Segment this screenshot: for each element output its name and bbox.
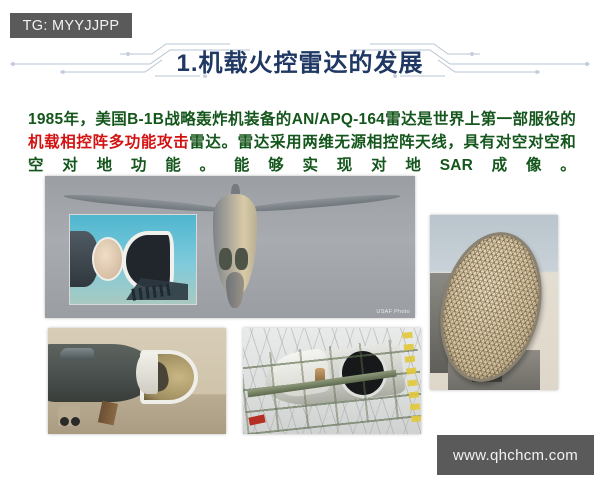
inset-antenna-array: [92, 237, 124, 281]
photo-radar-inset: [69, 214, 197, 305]
body-segment-1: 1985年，美国B-1B战略轰炸机装备的AN/APQ-164雷达是世界上第一部服…: [28, 111, 576, 128]
body-segment-highlight: 机载相控阵多功能攻击: [28, 134, 189, 151]
engine-inlet-right: [235, 248, 248, 270]
radar-antenna-dish: [136, 352, 158, 394]
photo-phased-array-antenna: [430, 215, 558, 390]
page-title: 1.机载火控雷达的发展: [0, 36, 600, 84]
slide-title-band: 1.机载火控雷达的发展: [0, 36, 600, 84]
photo-aircraft-nose-radome-open: [48, 328, 226, 434]
photo-credit: USAF Photo: [376, 309, 410, 315]
nose-landing-gear: [58, 406, 80, 426]
body-paragraph: 1985年，美国B-1B战略轰炸机装备的AN/APQ-164雷达是世界上第一部服…: [28, 108, 576, 177]
engine-inlet-left: [219, 248, 232, 270]
photo-b1b-in-flight: USAF Photo: [45, 176, 415, 318]
watermark-url: www.qhchcm.com: [437, 435, 594, 475]
photo-hangar-nose-maintenance: [243, 328, 421, 434]
cockpit-canopy: [60, 348, 94, 360]
watermark-tg: TG: MYYJJPP: [10, 13, 132, 38]
